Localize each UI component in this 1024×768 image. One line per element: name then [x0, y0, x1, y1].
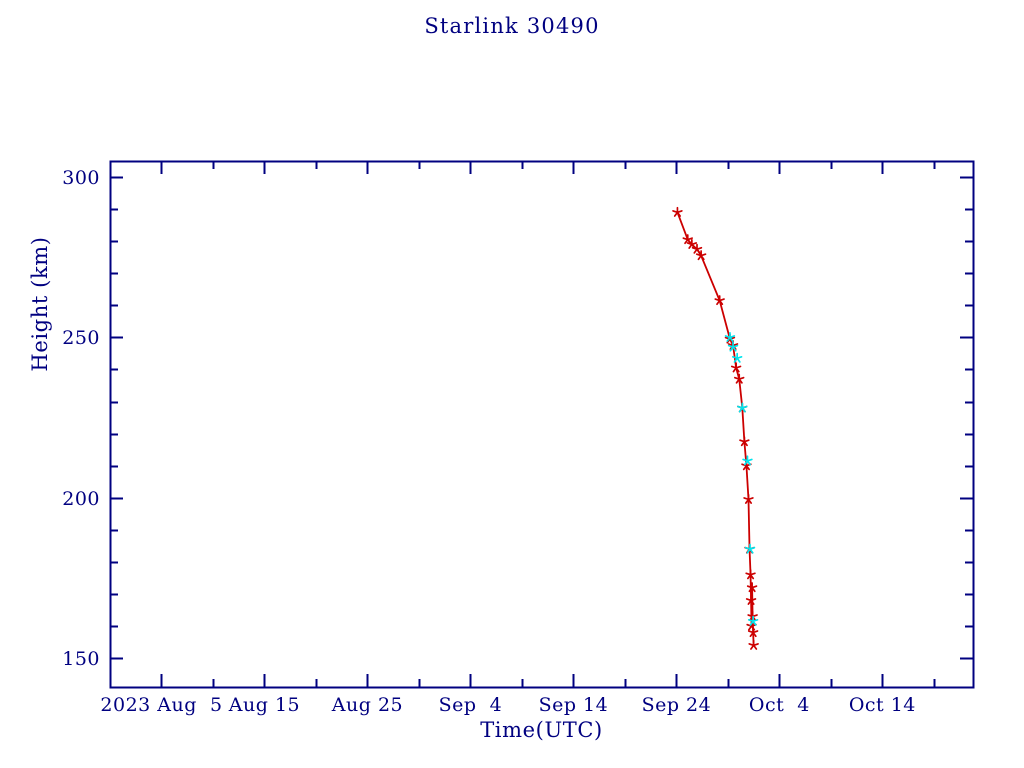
series-predicted-points	[726, 333, 758, 625]
x-axis-ticks	[111, 161, 935, 687]
data-point-marker	[749, 641, 758, 649]
data-point-marker	[743, 456, 752, 464]
series-line	[677, 212, 753, 645]
y-axis-ticks	[110, 178, 973, 659]
plot-frame	[111, 162, 974, 688]
plot-canvas	[0, 0, 1024, 768]
series-height-track	[673, 208, 758, 649]
chart-figure: Starlink 30490 Height (km) Time(UTC) 150…	[0, 0, 1024, 768]
